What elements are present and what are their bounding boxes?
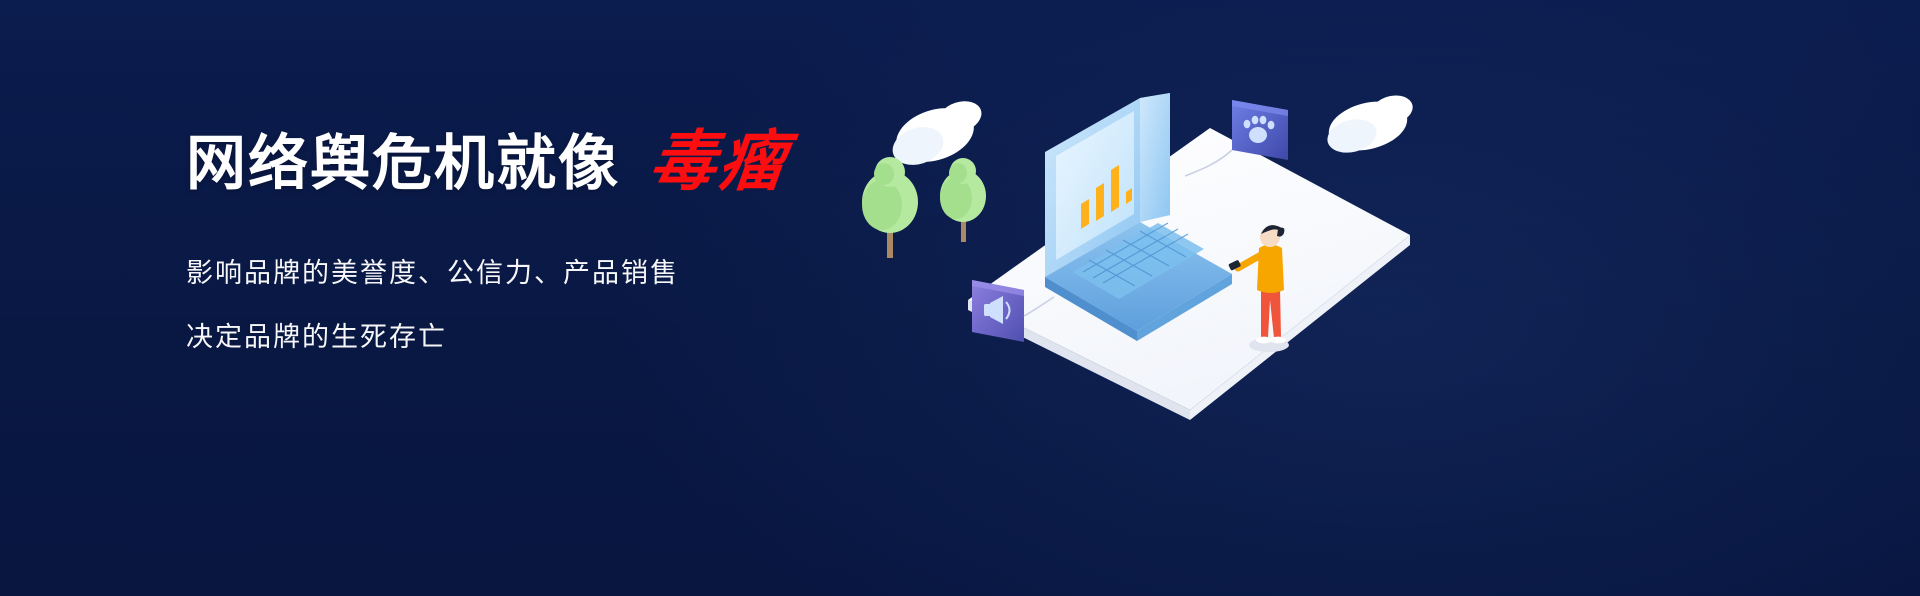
hero-illustration	[840, 0, 1520, 596]
subtitle-line-2: 决定品牌的生死存亡	[186, 324, 946, 351]
tree-icon-2	[940, 158, 986, 242]
banner-text-block: 网络舆危机就像 毒瘤 影响品牌的美誉度、公信力、产品销售 决定品牌的生死存亡	[186, 128, 946, 388]
subtitle-line-1: 影响品牌的美誉度、公信力、产品销售	[186, 260, 946, 287]
headline-accent-text: 毒瘤	[647, 128, 792, 194]
banner-subtitles: 影响品牌的美誉度、公信力、产品销售 决定品牌的生死存亡	[186, 260, 946, 351]
cloud-icon-left	[888, 96, 986, 171]
headline-main-text: 网络舆危机就像	[186, 134, 620, 194]
marketing-banner: 网络舆危机就像 毒瘤 影响品牌的美誉度、公信力、产品销售 决定品牌的生死存亡	[0, 0, 1920, 596]
banner-headline: 网络舆危机就像 毒瘤	[186, 128, 946, 194]
cloud-icon-right	[1324, 91, 1416, 158]
tree-icon-1	[862, 157, 918, 258]
